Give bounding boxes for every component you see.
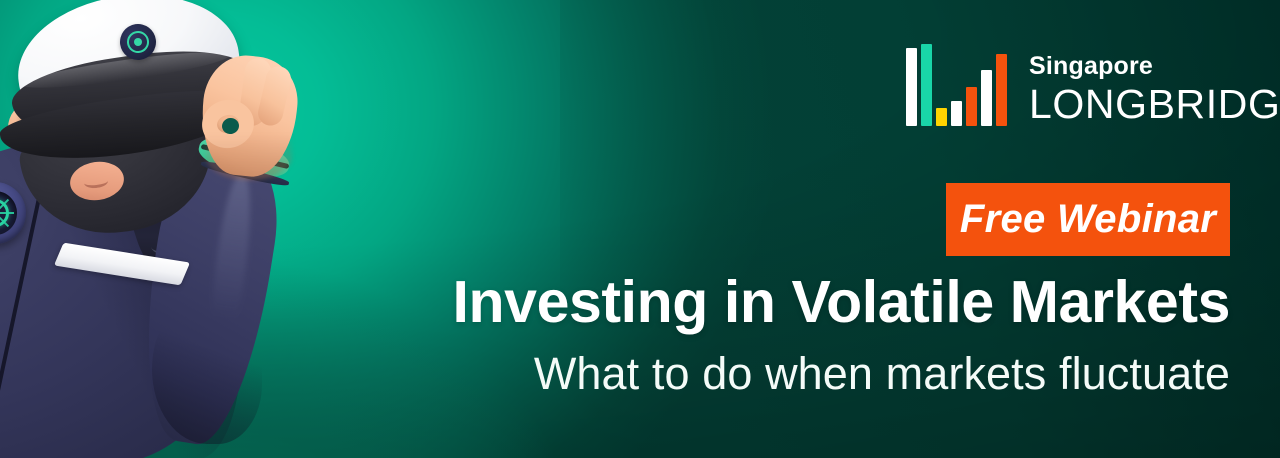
webinar-promo-banner: Singapore LONGBRIDGE Free Webinar Invest… (0, 0, 1280, 458)
logo-brand-prefix: Singapore (1029, 54, 1280, 79)
bar-white-2 (951, 101, 962, 126)
hand-shadow (206, 134, 292, 180)
longbridge-logo[interactable]: Singapore LONGBRIDGE (906, 44, 1280, 126)
bar-orange-2 (996, 54, 1007, 126)
longbridge-bar-chart-logo (906, 44, 1007, 126)
logo-wordmark: Singapore LONGBRIDGE (1029, 54, 1280, 126)
free-webinar-badge-label: Free Webinar (960, 197, 1216, 242)
page-subtitle: What to do when markets fluctuate (534, 348, 1230, 400)
ships-wheel-hub-icon (134, 38, 142, 46)
free-webinar-badge: Free Webinar (946, 183, 1230, 256)
bar-teal (921, 44, 932, 126)
page-title: Investing in Volatile Markets (453, 268, 1230, 336)
raised-arm-shadow (152, 294, 262, 444)
bar-yellow (936, 108, 947, 126)
sailor-captain-illustration (0, 0, 374, 458)
bar-white-3 (981, 70, 992, 126)
logo-brand-name: LONGBRIDGE (1029, 85, 1280, 124)
bar-white-1 (906, 48, 917, 126)
bar-orange-1 (966, 87, 977, 126)
